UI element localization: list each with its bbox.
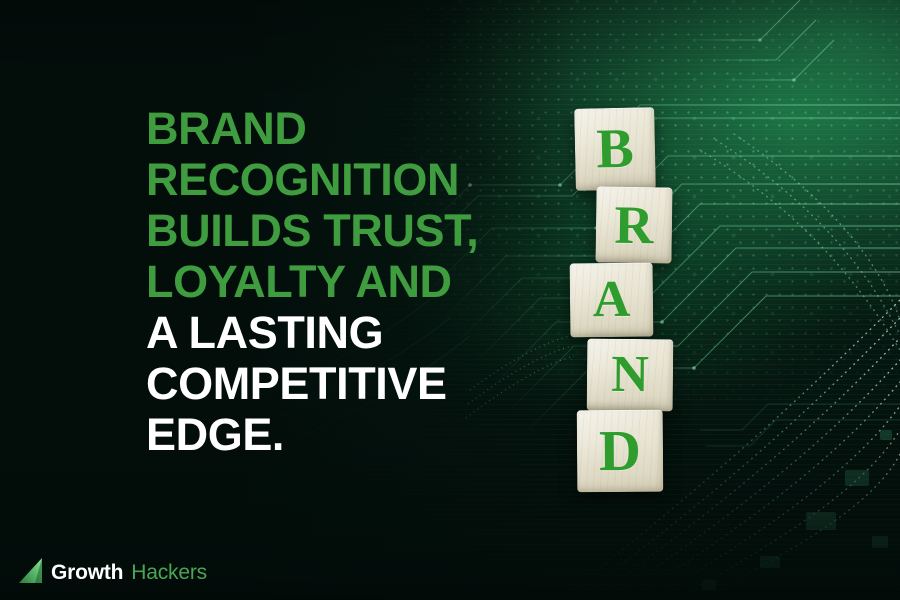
- headline-line-3: BUILDS TRUST,: [146, 205, 526, 256]
- headline-line-6: COMPETITIVE: [146, 358, 526, 409]
- headline-line-1: BRAND: [146, 103, 526, 154]
- logo-text-primary: Growth: [51, 562, 123, 583]
- letter-block-r: R: [595, 186, 672, 263]
- letter-block-stack: B R A N D: [540, 80, 740, 520]
- letter-block-b: B: [574, 107, 656, 191]
- headline-line-2: RECOGNITION: [146, 154, 526, 205]
- growth-arrow-icon: [18, 558, 48, 586]
- poster-canvas: BRAND RECOGNITION BUILDS TRUST, LOYALTY …: [0, 0, 900, 600]
- block-letter-glyph: D: [599, 422, 641, 480]
- headline-line-4: LOYALTY AND: [146, 256, 526, 307]
- logo-text-secondary: Hackers: [131, 562, 207, 583]
- headline-line-5: A LASTING: [146, 307, 526, 358]
- block-letter-glyph: B: [596, 121, 635, 178]
- brand-logo[interactable]: Growth Hackers: [18, 558, 207, 586]
- letter-block-n: N: [587, 339, 674, 412]
- headline: BRAND RECOGNITION BUILDS TRUST, LOYALTY …: [146, 103, 526, 460]
- letter-block-a: A: [570, 263, 654, 338]
- headline-line-7: EDGE.: [146, 409, 526, 460]
- letter-block-d: D: [577, 410, 664, 493]
- block-letter-glyph: R: [614, 198, 654, 253]
- block-letter-glyph: N: [611, 349, 649, 401]
- block-letter-glyph: A: [592, 274, 630, 326]
